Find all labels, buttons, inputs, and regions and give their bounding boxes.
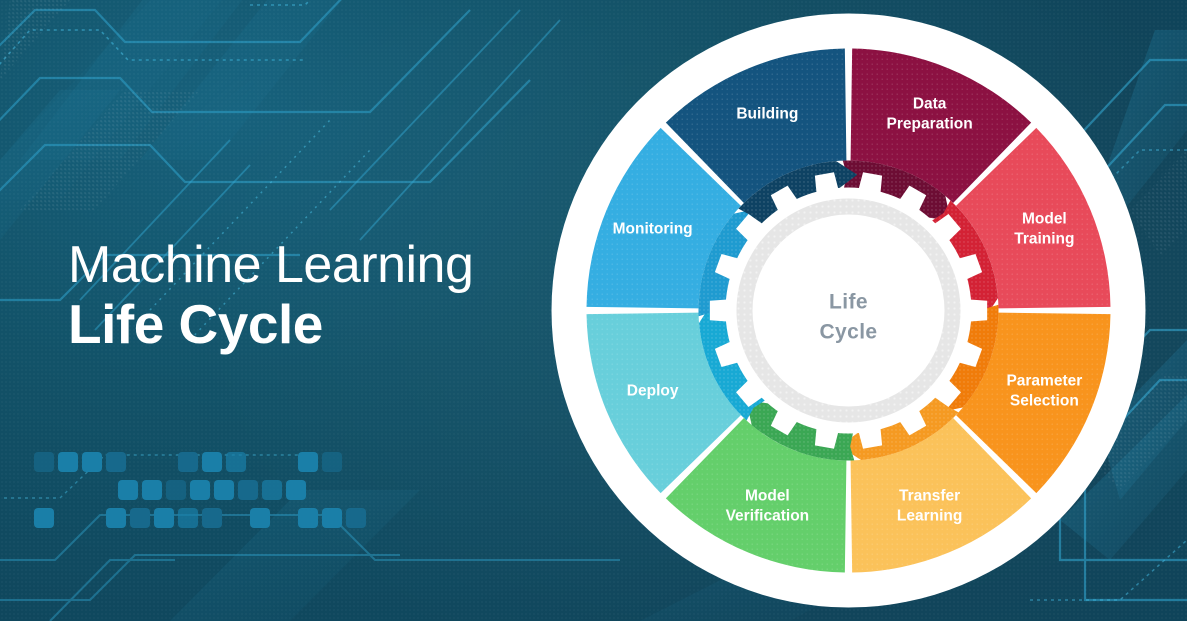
life-cycle-wheel: Life Cycle DataPreparationModelTrainingP… (551, 13, 1146, 608)
segment-label-monitoring: Monitoring (613, 220, 693, 237)
decor-square (58, 452, 78, 472)
page-title: Machine Learning Life Cycle (68, 238, 538, 353)
title-line-2: Life Cycle (68, 296, 538, 353)
decor-square (346, 508, 366, 528)
segment-label-model-verification: Model (745, 487, 790, 504)
segment-label-deploy: Deploy (627, 383, 679, 400)
decor-square (142, 480, 162, 500)
decor-square (178, 508, 198, 528)
decor-square (202, 508, 222, 528)
segment-label-model-training-line2: Training (1014, 230, 1074, 247)
segment-label-model-training: Model (1022, 210, 1067, 227)
decor-square (286, 480, 306, 500)
decor-square (322, 508, 342, 528)
center-label-line-2: Cycle (819, 321, 877, 344)
segment-label-parameter-selection-line2: Selection (1010, 393, 1079, 410)
title-line-1: Machine Learning (68, 238, 538, 292)
decor-square (106, 508, 126, 528)
decor-square (226, 452, 246, 472)
decor-square (214, 480, 234, 500)
decor-square (238, 480, 258, 500)
decor-square (82, 452, 102, 472)
segment-label-parameter-selection: Parameter (1006, 373, 1082, 390)
decor-square (34, 452, 54, 472)
decor-square (262, 480, 282, 500)
decor-square (154, 508, 174, 528)
decor-square (298, 452, 318, 472)
segment-label-building: Building (736, 106, 798, 123)
decor-square (166, 480, 186, 500)
segment-label-data-preparation: Data (913, 96, 947, 113)
decor-square (298, 508, 318, 528)
segment-label-data-preparation-line2: Preparation (887, 116, 973, 133)
decor-square (202, 452, 222, 472)
segment-label-transfer-learning: Transfer (899, 487, 960, 504)
infographic-canvas: Machine Learning Life Cycle (0, 0, 1187, 621)
segment-label-transfer-learning-line2: Learning (897, 507, 962, 524)
decor-square (34, 508, 54, 528)
center-label-line-1: Life (829, 291, 868, 314)
decor-square (106, 452, 126, 472)
decor-square (130, 508, 150, 528)
decor-square (190, 480, 210, 500)
pixel-squares-decoration (34, 452, 374, 542)
decor-square (322, 452, 342, 472)
segment-label-model-verification-line2: Verification (726, 507, 810, 524)
decor-square (250, 508, 270, 528)
decor-square (178, 452, 198, 472)
decor-square (118, 480, 138, 500)
